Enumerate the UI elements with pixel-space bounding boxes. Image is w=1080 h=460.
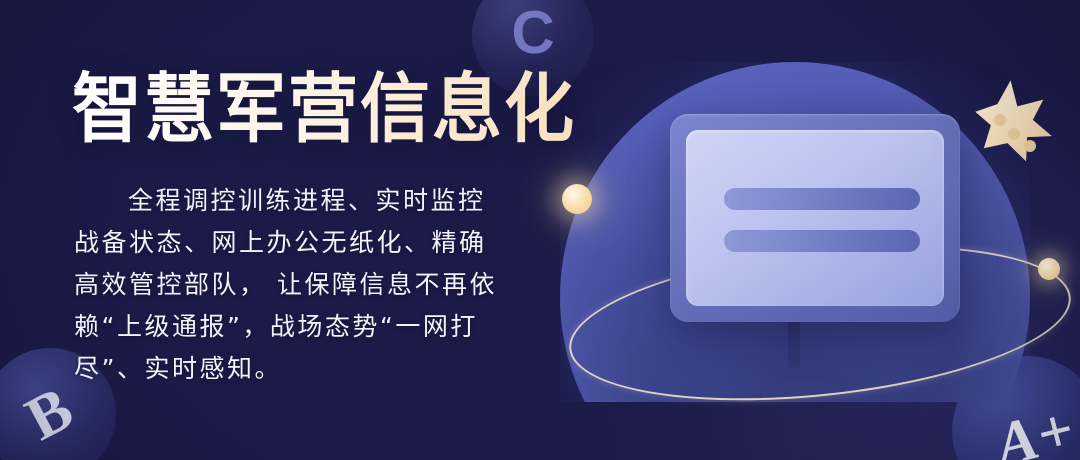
body-paragraph: 全程调控训练进程、实时监控战备状态、网上办公无纸化、精确高效管控部队， 让保障信… [74, 180, 504, 390]
promo-banner: C B A+ [0, 0, 1080, 460]
page-title: 智慧军营信息化 [72, 66, 576, 152]
